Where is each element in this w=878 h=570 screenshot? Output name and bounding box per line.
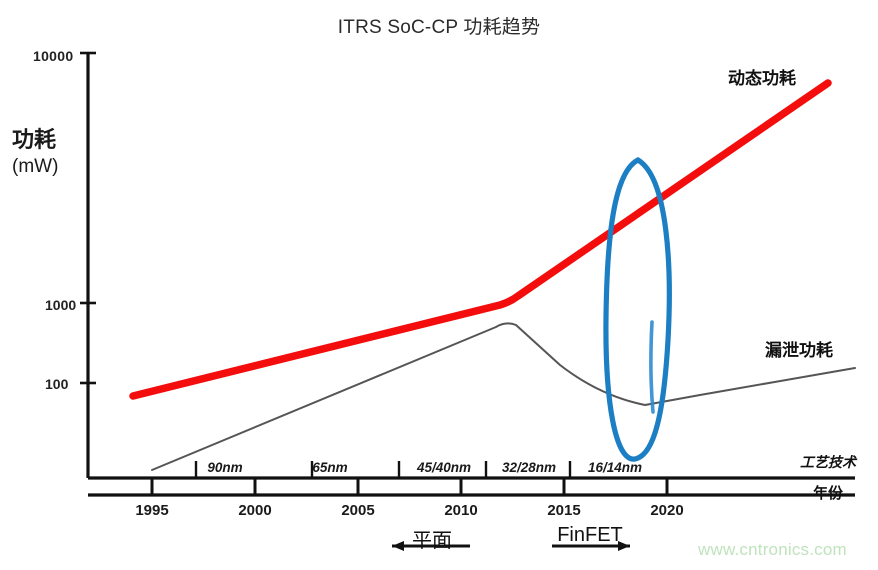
finfet-era-label: FinFET <box>557 524 623 547</box>
dynamic-power-curve <box>133 83 828 396</box>
planar-era-label: 平面 <box>412 524 452 553</box>
y-tick-label-100: 100 <box>45 376 68 392</box>
y-tick-label-10000: 10000 <box>33 48 73 64</box>
x-tick-label-2010: 2010 <box>444 502 477 519</box>
leakage-power-curve <box>152 323 855 470</box>
process-node-label-16nm: 16/14nm <box>572 460 658 475</box>
process-node-label-45nm: 45/40nm <box>401 460 487 475</box>
process-node-label-90nm: 90nm <box>203 460 247 475</box>
process-node-label-65nm: 65nm <box>308 460 352 475</box>
highlight-ellipse-annotation <box>606 160 669 459</box>
chart-canvas: ITRS SoC-CP 功耗趋势 <box>0 0 878 570</box>
leakage-power-label: 漏泄功耗 <box>765 336 833 361</box>
y-axis-title-main: 功耗 <box>12 126 98 153</box>
watermark: www.cntronics.com <box>698 540 847 560</box>
x-tick-label-2015: 2015 <box>547 502 580 519</box>
x-tick-label-1995: 1995 <box>135 502 168 519</box>
x-axis-title: 年份 <box>813 482 843 503</box>
process-node-label-32nm: 32/28nm <box>486 460 572 475</box>
x-tick-label-2020: 2020 <box>650 502 683 519</box>
y-tick-label-1000: 1000 <box>45 297 85 314</box>
process-axis-title: 工艺技术 <box>800 452 856 472</box>
y-axis-title: 功耗 (mW) <box>12 126 98 180</box>
y-axis-title-unit: (mW) <box>12 153 98 180</box>
dynamic-power-label: 动态功耗 <box>728 64 796 89</box>
x-tick-label-2005: 2005 <box>341 502 374 519</box>
x-tick-label-2000: 2000 <box>238 502 271 519</box>
